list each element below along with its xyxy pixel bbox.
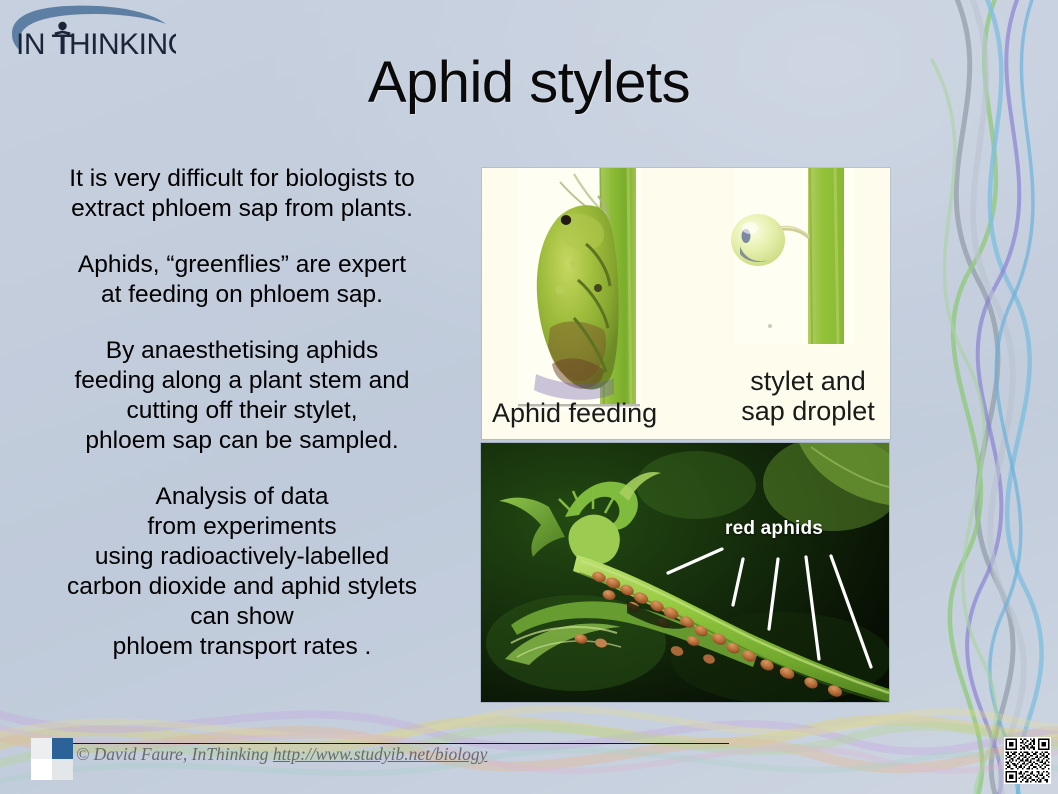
footer-logo-tile-bl [31, 759, 52, 780]
figure-label-red-aphids: red aphids [725, 518, 823, 540]
stylet-droplet-illustration [731, 168, 854, 344]
ribbon-swirls-right [908, 0, 1058, 794]
sap-droplet [731, 214, 785, 266]
slide-canvas: IN HINKING Aphid stylets It is very diff… [0, 0, 1058, 794]
body-paragraph-2: Aphids, “greenflies” are expert at feedi… [22, 250, 462, 310]
red-aphids-illustration [481, 443, 889, 702]
footer-logo-tile-tr [52, 738, 73, 759]
footer-credit: © David Faure, InThinking http://www.stu… [76, 744, 487, 765]
figure-label-stylet-droplet: stylet and sap droplet [718, 366, 898, 426]
body-paragraph-3: By anaesthetising aphids feeding along a… [22, 336, 462, 456]
qr-code[interactable] [1004, 737, 1051, 784]
figure-label-aphid-feeding: Aphid feeding [492, 398, 697, 428]
body-paragraph-1: It is very difficult for biologists to e… [22, 164, 462, 224]
figure-red-aphids [481, 443, 889, 702]
footer-copyright: © David Faure, InThinking [76, 744, 273, 764]
page-title: Aphid stylets [0, 52, 1058, 114]
footer-logo-tile-br [52, 759, 73, 780]
body-paragraph-4: Analysis of data from experiments using … [22, 482, 462, 662]
aphid-eye [561, 215, 571, 225]
footer-logo-tile-tl [31, 738, 52, 759]
footer-website-link[interactable]: http://www.studyib.net/biology [273, 744, 488, 764]
body-text-column: It is very difficult for biologists to e… [22, 164, 462, 662]
footer-logo [31, 738, 73, 780]
